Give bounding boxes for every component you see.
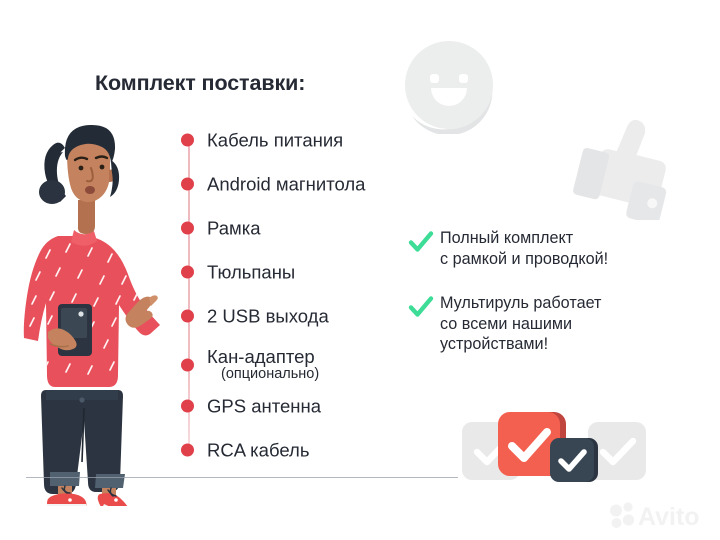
bullet-dot-icon <box>181 359 194 372</box>
list-item-label: Кабель питания <box>207 130 343 149</box>
list-item: GPS антенна <box>178 394 428 418</box>
page-title: Комплект поставки: <box>95 71 305 96</box>
bullet-dot-icon <box>181 400 194 413</box>
list-item: Android магнитола <box>178 172 428 196</box>
list-item-label: Тюльпаны <box>207 262 295 281</box>
list-item-label: GPS антенна <box>207 396 321 415</box>
list-item: 2 USB выхода <box>178 304 428 328</box>
list-item-label-note: (опционально) <box>221 368 319 383</box>
avito-logo-icon: Avito <box>606 498 712 532</box>
list-item-label: 2 USB выхода <box>207 306 329 325</box>
bullet-dot-icon <box>181 266 194 279</box>
bullet-dot-icon <box>181 444 194 457</box>
thumbs-up-icon <box>568 108 686 220</box>
list-item-label-main: Кан-адаптер <box>207 346 315 367</box>
ground-line <box>26 477 458 478</box>
green-check-icon <box>408 229 434 255</box>
checkbox-card-dark <box>550 438 594 482</box>
list-item-label: RCA кабель <box>207 440 309 459</box>
bullet-dot-icon <box>181 134 194 147</box>
list-item: Кан-адаптер (опционально) <box>178 344 428 386</box>
feature-item: Мультируль работает со всеми нашими устр… <box>408 293 601 355</box>
list-item: RCA кабель <box>178 438 428 462</box>
feature-text: Полный комплект с рамкой и проводкой! <box>440 228 608 269</box>
list-item: Кабель питания <box>178 128 428 152</box>
list-item-label: Рамка <box>207 218 261 237</box>
checkbox-checkmarks-icon <box>462 410 647 490</box>
list-item-label: Кан-адаптер (опционально) <box>207 347 319 383</box>
kit-contents-list: Кабель питания Android магнитола Рамка Т… <box>178 128 428 458</box>
feature-text: Мультируль работает со всеми нашими устр… <box>440 293 601 355</box>
list-item: Тюльпаны <box>178 260 428 284</box>
woman-pointing-with-tablet-illustration <box>8 108 176 506</box>
green-check-icon <box>408 294 434 320</box>
list-item: Рамка <box>178 216 428 240</box>
feature-item: Полный комплект с рамкой и проводкой! <box>408 228 608 269</box>
list-item-label: Android магнитола <box>207 174 365 193</box>
bullet-dot-icon <box>181 178 194 191</box>
smiley-face-icon <box>400 36 498 134</box>
bullet-dot-icon <box>181 222 194 235</box>
product-info-card: Комплект поставки: Кабель питания Androi… <box>0 0 720 540</box>
svg-text:Avito: Avito <box>638 503 700 531</box>
bullet-dot-icon <box>181 310 194 323</box>
